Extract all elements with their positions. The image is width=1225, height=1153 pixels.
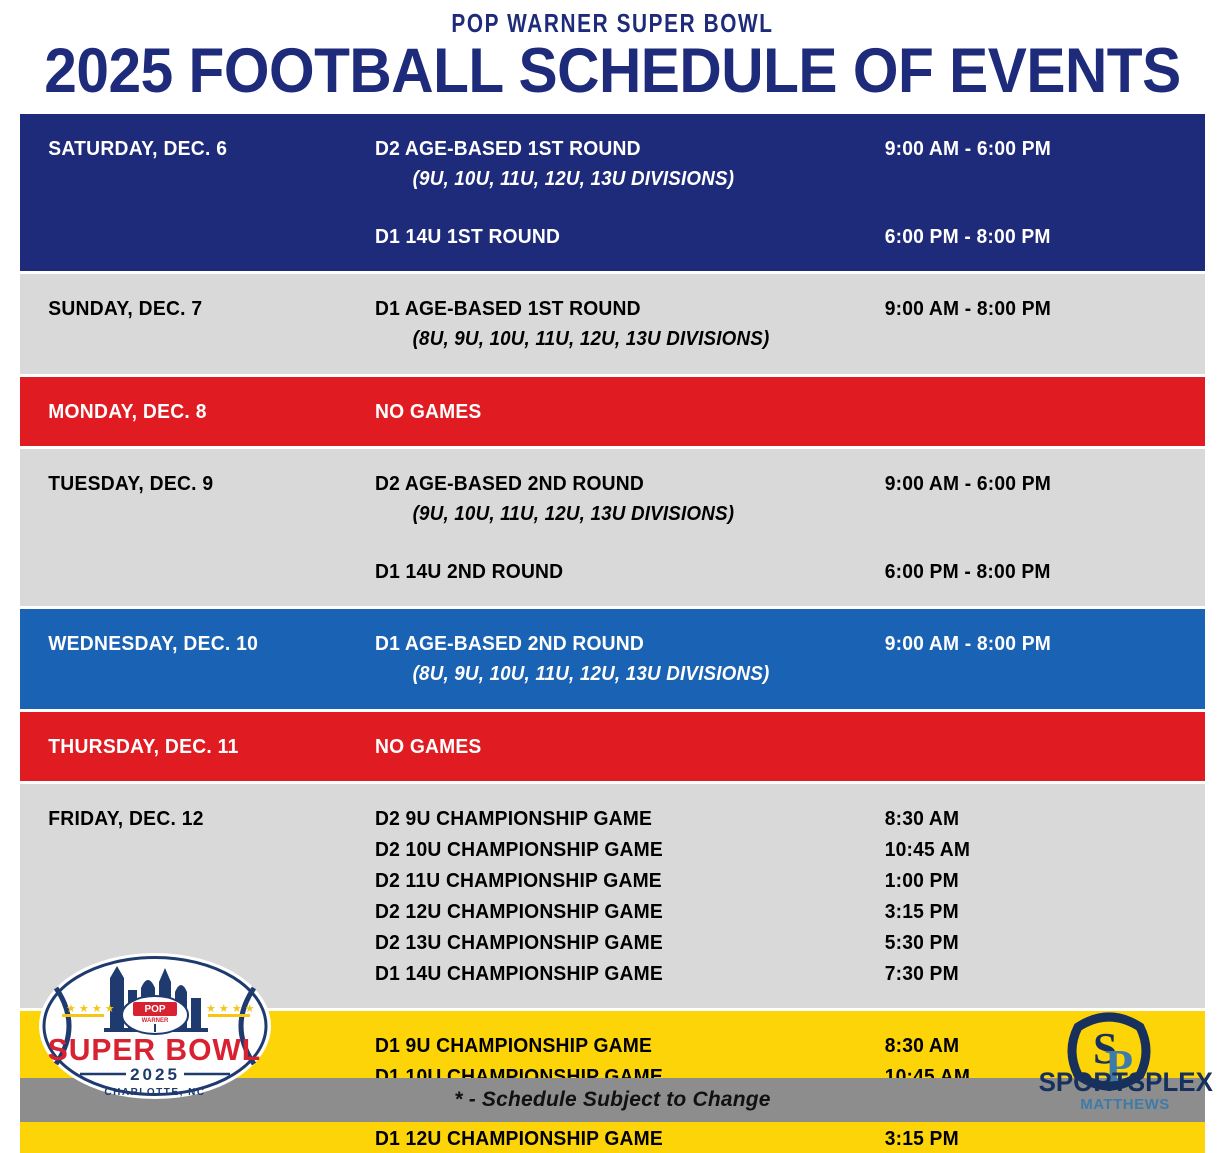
time-label: 9:00 AM - 8:00 PM [880, 293, 1186, 324]
list-item: D2 13U CHAMPIONSHIP GAME [375, 927, 850, 958]
day-label: TUESDAY, DEC. 9 [20, 468, 354, 499]
event-label: D2 AGE-BASED 2ND ROUND (9U, 10U, 11U, 12… [375, 468, 850, 530]
schedule-block-monday-dec-8: MONDAY, DEC. 8 NO GAMES [20, 377, 1205, 446]
event-label: D1 AGE-BASED 2ND ROUND (8U, 9U, 10U, 11U… [375, 628, 850, 690]
time-label: 6:00 PM - 8:00 PM [880, 221, 1186, 252]
day-label: FRIDAY, DEC. 12 [20, 803, 354, 834]
sportsplex-sub: MATTHEWS [1035, 1096, 1215, 1113]
schedule-poster: POP WARNER SUPER BOWL 2025 FOOTBALL SCHE… [0, 0, 1225, 1153]
time-label: 9:00 AM - 8:00 PM [880, 628, 1186, 659]
poster-kicker: POP WARNER SUPER BOWL [123, 8, 1103, 38]
table-row: SUNDAY, DEC. 7 D1 AGE-BASED 1ST ROUND (8… [20, 274, 1205, 374]
poster-header: POP WARNER SUPER BOWL 2025 FOOTBALL SCHE… [0, 0, 1225, 110]
logo-title: SUPER BOWL [48, 1033, 261, 1068]
time-label: 6:00 PM - 8:00 PM [880, 556, 1186, 587]
event-title: D1 AGE-BASED 1ST ROUND [375, 297, 641, 320]
day-label: THURSDAY, DEC. 11 [20, 731, 354, 762]
event-label: D1 AGE-BASED 1ST ROUND (8U, 9U, 10U, 11U… [375, 293, 850, 355]
day-label: SUNDAY, DEC. 7 [20, 293, 354, 324]
list-item: D1 12U CHAMPIONSHIP GAME [375, 1123, 850, 1153]
svg-text:★ ★ ★ ★: ★ ★ ★ ★ [206, 1003, 255, 1015]
list-item: D2 11U CHAMPIONSHIP GAME [375, 865, 850, 896]
list-item-time: 1:00 PM [885, 865, 1186, 896]
event-title: D2 AGE-BASED 2ND ROUND [375, 472, 644, 495]
list-item-time: 10:45 AM [885, 834, 1186, 865]
row-spacer [20, 530, 1205, 556]
table-row: SATURDAY, DEC. 6 D2 AGE-BASED 1ST ROUND … [20, 114, 1205, 195]
event-label: D1 14U 1ST ROUND [375, 221, 850, 252]
schedule-block-saturday-dec-6: SATURDAY, DEC. 6 D2 AGE-BASED 1ST ROUND … [20, 114, 1205, 271]
list-item: D2 10U CHAMPIONSHIP GAME [375, 834, 850, 865]
time-label: 9:00 AM - 6:00 PM [880, 468, 1186, 499]
schedule-block-tuesday-dec-9: TUESDAY, DEC. 9 D2 AGE-BASED 2ND ROUND (… [20, 449, 1205, 606]
list-item: D1 14U CHAMPIONSHIP GAME [375, 958, 850, 989]
event-label: D1 14U 2ND ROUND [375, 556, 850, 587]
list-item-time: 7:30 PM [885, 958, 1186, 989]
table-row: TUESDAY, DEC. 9 D2 AGE-BASED 2ND ROUND (… [20, 449, 1205, 530]
event-title: D1 AGE-BASED 2ND ROUND [375, 632, 644, 655]
event-title: D2 AGE-BASED 1ST ROUND [375, 137, 641, 160]
logo-badge-bottom: WARNER [142, 1018, 169, 1024]
event-label: D2 AGE-BASED 1ST ROUND (9U, 10U, 11U, 12… [375, 133, 850, 195]
table-row: WEDNESDAY, DEC. 10 D1 AGE-BASED 2ND ROUN… [20, 609, 1205, 709]
time-label: 9:00 AM - 6:00 PM [880, 133, 1186, 164]
table-row: D1 14U 2ND ROUND 6:00 PM - 8:00 PM [20, 556, 1205, 606]
logo-city: CHARLOTTE, NC [104, 1087, 205, 1098]
time-list: 8:30 AM 10:45 AM 1:00 PM 3:15 PM 5:30 PM… [880, 803, 1186, 989]
day-label: SATURDAY, DEC. 6 [20, 133, 354, 164]
poster-title: 2025 FOOTBALL SCHEDULE OF EVENTS [43, 38, 1182, 104]
list-item-time: 8:30 AM [885, 803, 1186, 834]
list-item-time: 3:15 PM [885, 1123, 1186, 1153]
event-divisions: (8U, 9U, 10U, 11U, 12U, 13U DIVISIONS) [375, 659, 850, 690]
logo-year: 2025 [130, 1065, 180, 1084]
svg-text:★ ★ ★ ★: ★ ★ ★ ★ [66, 1003, 115, 1015]
super-bowl-logo: ★ ★ ★ ★ ★ ★ ★ ★ POP WARNER SUPER BOWL 20… [38, 952, 273, 1100]
schedule-block-wednesday-dec-10: WEDNESDAY, DEC. 10 D1 AGE-BASED 2ND ROUN… [20, 609, 1205, 709]
list-item: D1 9U CHAMPIONSHIP GAME [375, 1030, 850, 1061]
schedule-block-thursday-dec-11: THURSDAY, DEC. 11 NO GAMES [20, 712, 1205, 781]
table-row: THURSDAY, DEC. 11 NO GAMES [20, 712, 1205, 781]
list-item-time: 3:15 PM [885, 896, 1186, 927]
event-list: D2 9U CHAMPIONSHIP GAME D2 10U CHAMPIONS… [375, 803, 850, 989]
list-item: D2 9U CHAMPIONSHIP GAME [375, 803, 850, 834]
event-divisions: (9U, 10U, 11U, 12U, 13U DIVISIONS) [375, 499, 850, 530]
list-item: D2 12U CHAMPIONSHIP GAME [375, 896, 850, 927]
table-row: D1 14U 1ST ROUND 6:00 PM - 8:00 PM [20, 221, 1205, 271]
day-label: MONDAY, DEC. 8 [20, 396, 354, 427]
day-label: WEDNESDAY, DEC. 10 [20, 628, 354, 659]
logo-badge-top: POP [144, 1004, 165, 1015]
schedule-block-sunday-dec-7: SUNDAY, DEC. 7 D1 AGE-BASED 1ST ROUND (8… [20, 274, 1205, 374]
event-label: NO GAMES [375, 396, 850, 427]
row-spacer [20, 195, 1205, 221]
event-divisions: (9U, 10U, 11U, 12U, 13U DIVISIONS) [375, 164, 850, 195]
event-divisions: (8U, 9U, 10U, 11U, 12U, 13U DIVISIONS) [375, 324, 850, 355]
list-item-time: 5:30 PM [885, 927, 1186, 958]
sportsplex-name: SPORTSPLEX [1039, 1068, 1212, 1096]
event-label: NO GAMES [375, 731, 850, 762]
sportsplex-wordmark: SPORTSPLEX MATTHEWS [1035, 1068, 1215, 1113]
table-row: MONDAY, DEC. 8 NO GAMES [20, 377, 1205, 446]
